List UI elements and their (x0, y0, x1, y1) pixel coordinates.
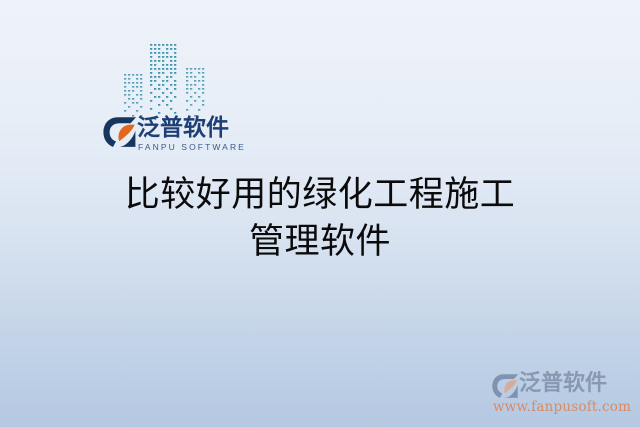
brand-wordmark-en: FANPU SOFTWARE (138, 142, 246, 152)
watermark-logo-mark-icon (492, 373, 519, 399)
dotted-building-skyline-icon (122, 38, 232, 126)
brand-wordmark-cn: 泛普软件 (137, 114, 229, 142)
brand-logo-block: 泛普软件 FANPU SOFTWARE (103, 38, 238, 163)
watermark: 泛普软件 www.fanpusoft.com (488, 369, 630, 421)
page-title-line-2: 管理软件 (0, 219, 640, 266)
fanpu-logo-mark-icon (103, 116, 137, 148)
watermark-wordmark-cn: 泛普软件 (519, 370, 607, 398)
page-title-line-1: 比较好用的绿化工程施工 (0, 172, 640, 219)
brand-lockup: 泛普软件 FANPU SOFTWARE (103, 116, 238, 162)
promo-banner: 泛普软件 FANPU SOFTWARE 比较好用的绿化工程施工 管理软件 泛普软… (0, 0, 640, 427)
page-title: 比较好用的绿化工程施工 管理软件 (0, 172, 640, 266)
watermark-url: www.fanpusoft.com (493, 399, 631, 415)
